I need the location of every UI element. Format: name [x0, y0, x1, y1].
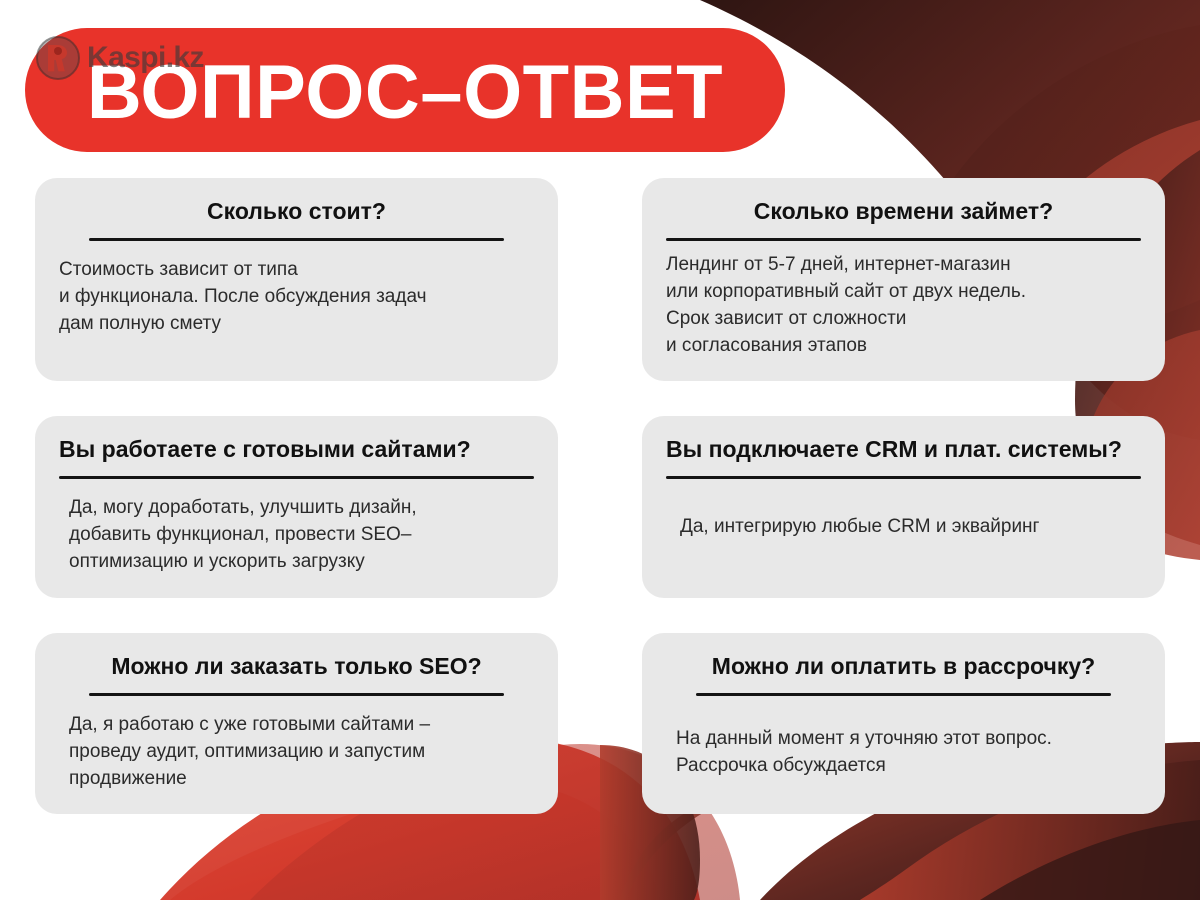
faq-question: Сколько стоит? [59, 198, 534, 226]
faq-card-installment[interactable]: Можно ли оплатить в рассрочку? На данный… [642, 633, 1165, 815]
faq-divider [59, 476, 534, 479]
faq-grid: Сколько стоит? Стоимость зависит от типа… [35, 178, 1165, 814]
page-title: ВОПРОС–ОТВЕТ [87, 55, 723, 131]
faq-card-existing-sites[interactable]: Вы работаете с готовыми сайтами? Да, мог… [35, 416, 558, 598]
faq-card-seo-only[interactable]: Можно ли заказать только SEO? Да, я рабо… [35, 633, 558, 815]
faq-divider [89, 693, 504, 696]
faq-answer: Да, я работаю с уже готовыми сайтами – п… [59, 712, 534, 793]
faq-card-duration[interactable]: Сколько времени займет? Лендинг от 5-7 д… [642, 178, 1165, 381]
faq-answer: Да, интегрирую любые CRM и эквайринг [666, 514, 1141, 541]
faq-answer: Да, могу доработать, улучшить дизайн, до… [59, 495, 534, 576]
faq-poster: ВОПРОС–ОТВЕТ Kaspi.kz Сколько стоит? Сто… [0, 0, 1200, 900]
faq-card-crm-payments[interactable]: Вы подключаете CRM и плат. системы? Да, … [642, 416, 1165, 598]
faq-question: Можно ли заказать только SEO? [59, 653, 534, 681]
title-banner: ВОПРОС–ОТВЕТ [25, 28, 785, 152]
faq-question: Можно ли оплатить в рассрочку? [666, 653, 1141, 681]
faq-card-price[interactable]: Сколько стоит? Стоимость зависит от типа… [35, 178, 558, 381]
faq-divider [666, 476, 1141, 479]
faq-divider [666, 238, 1141, 241]
faq-question: Вы подключаете CRM и плат. системы? [666, 436, 1141, 464]
faq-answer: Лендинг от 5-7 дней, интернет-магазин ил… [666, 252, 1141, 360]
faq-question: Вы работаете с готовыми сайтами? [59, 436, 534, 464]
faq-answer: Стоимость зависит от типа и функционала.… [59, 257, 534, 338]
faq-question: Сколько времени займет? [666, 198, 1141, 226]
faq-divider [89, 238, 504, 241]
faq-divider [696, 693, 1111, 696]
faq-answer: На данный момент я уточняю этот вопрос. … [666, 726, 1141, 780]
